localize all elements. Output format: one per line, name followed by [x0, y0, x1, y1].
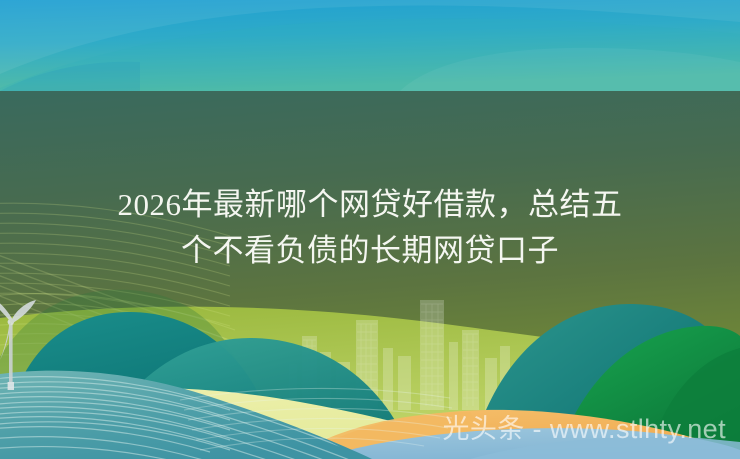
poster-canvas: 2026年最新哪个网贷好借款，总结五 个不看负债的长期网贷口子 光头条 - ww…	[0, 0, 740, 459]
sky-band	[0, 0, 740, 91]
field-band	[0, 91, 740, 459]
background-scene	[0, 0, 740, 459]
